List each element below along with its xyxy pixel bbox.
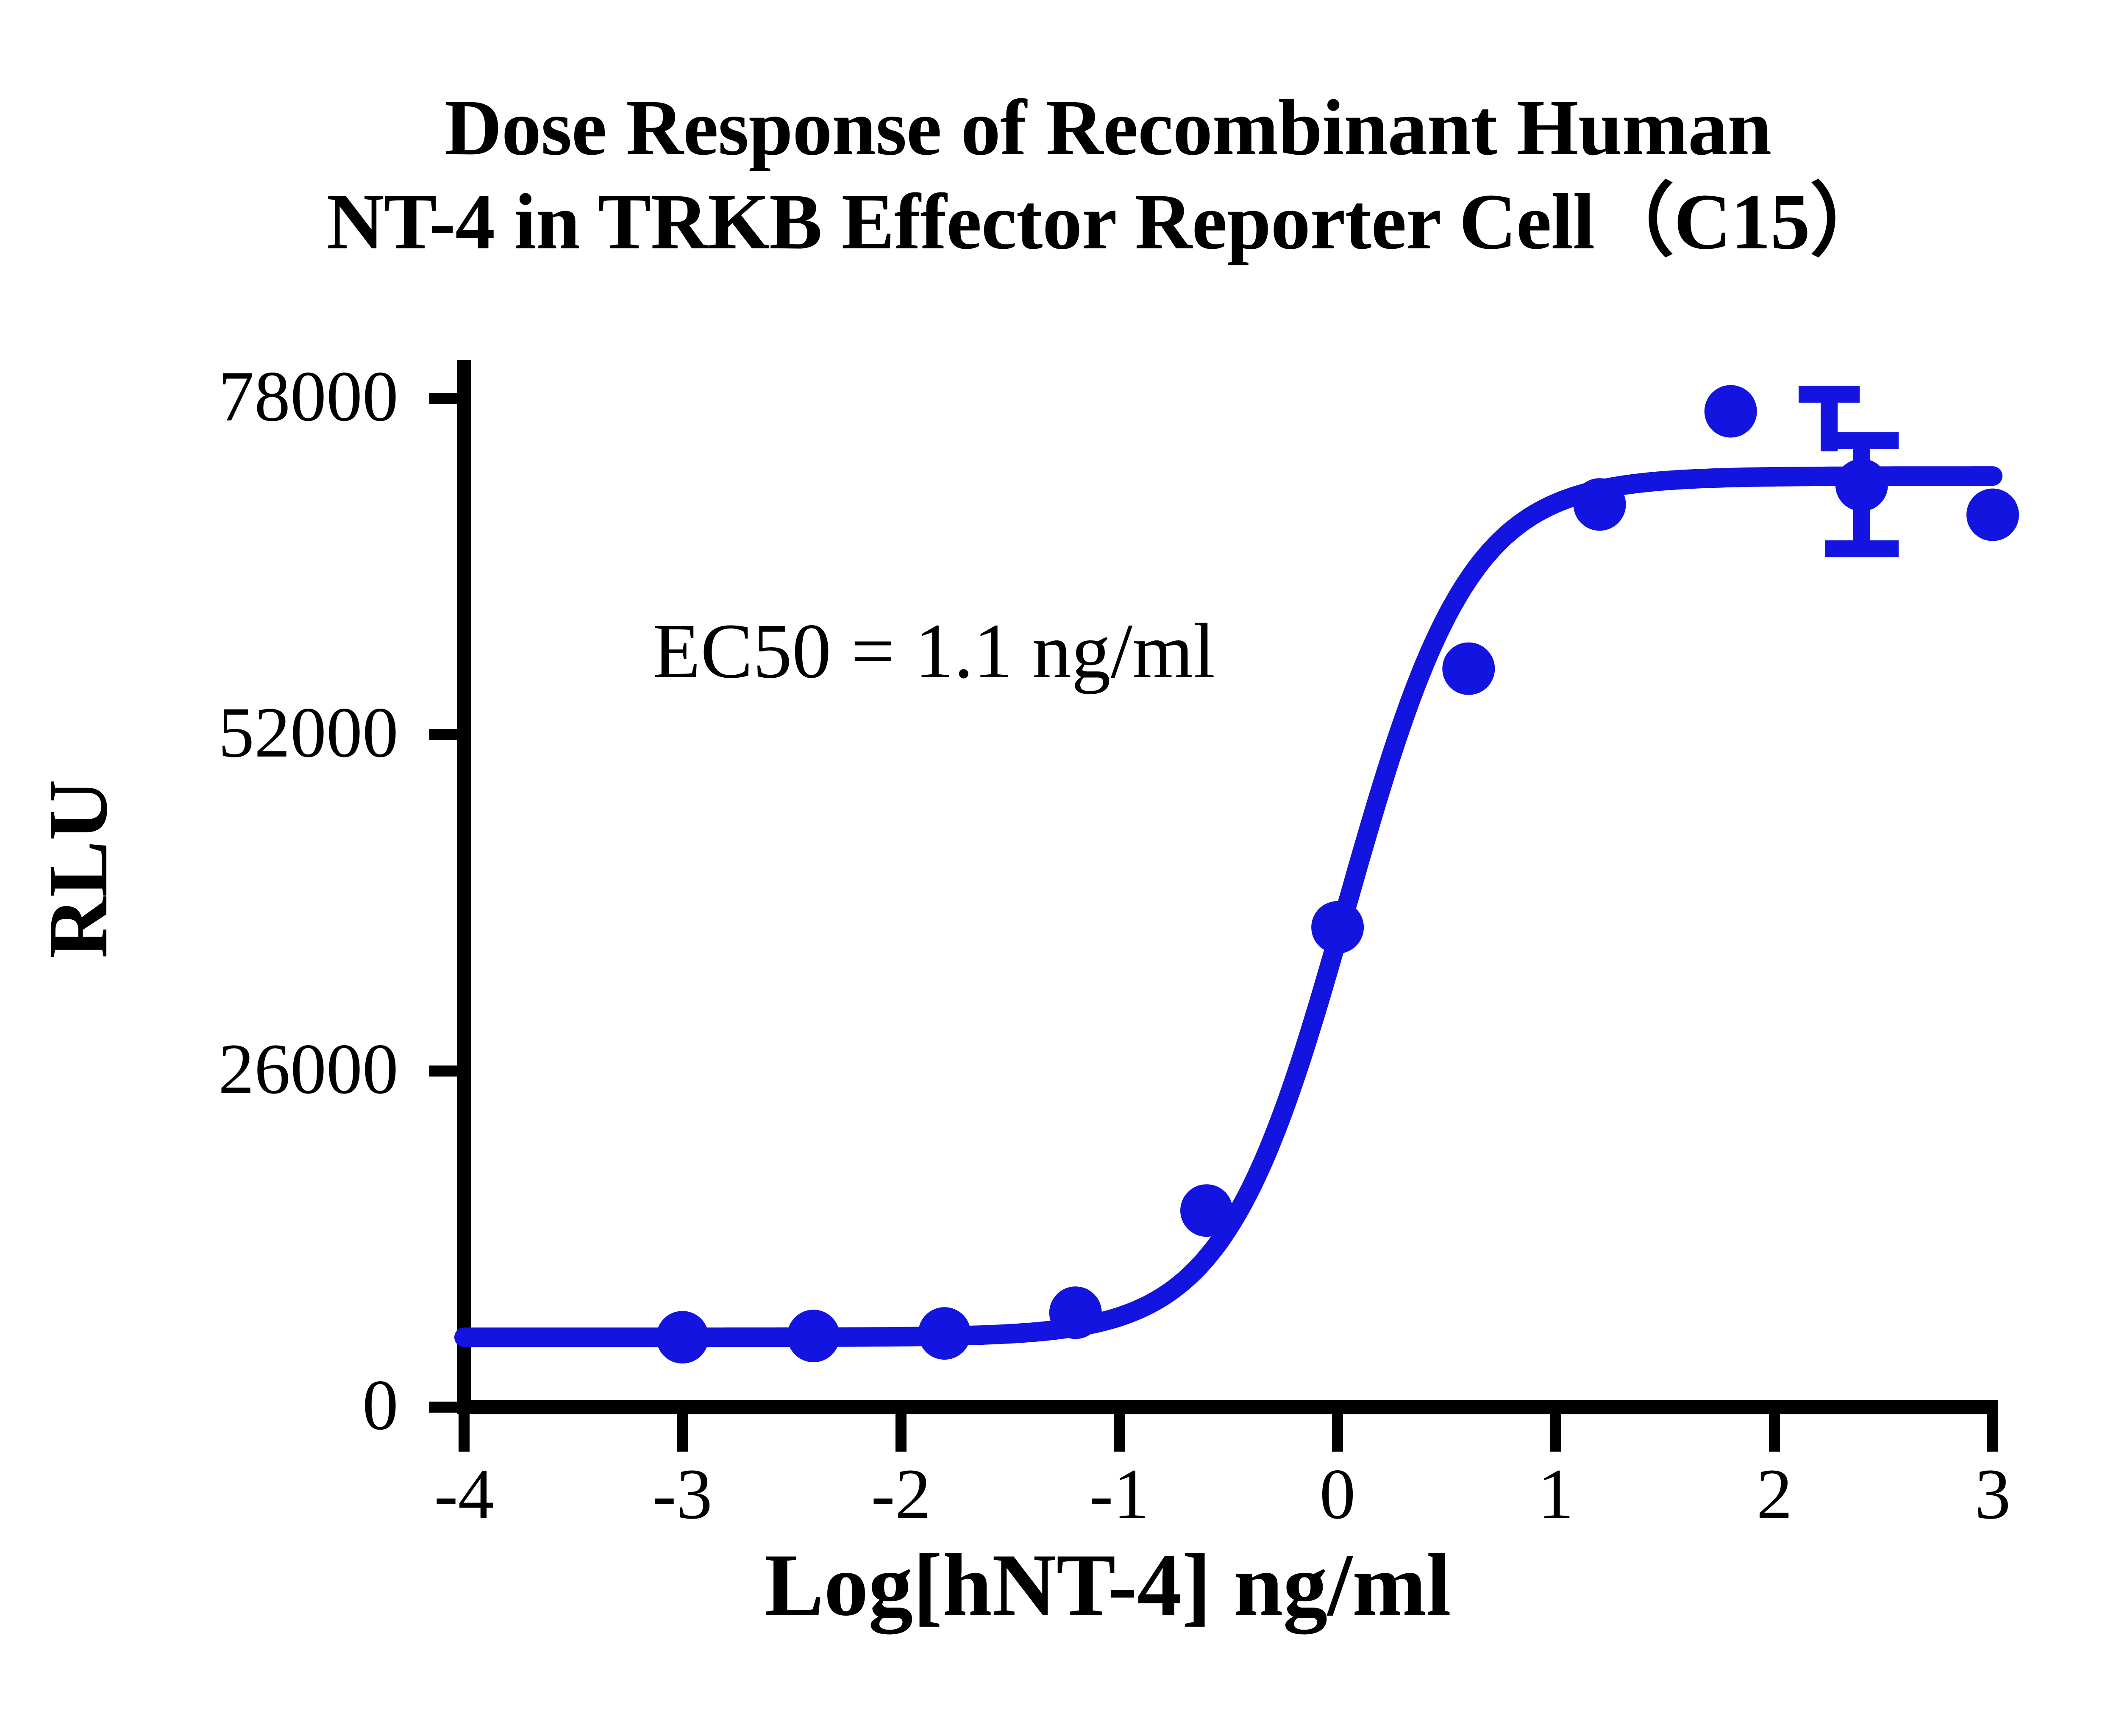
y-tick-label-26000: 26000 [127, 1033, 398, 1105]
x-tick-label-0: 0 [1270, 1458, 1405, 1530]
y-tick-label-0: 0 [127, 1369, 398, 1441]
x-tick-label--4: -4 [396, 1458, 532, 1530]
data-point [1705, 385, 1757, 438]
x-tick-label-2: 2 [1707, 1458, 1842, 1530]
y-axis-title: RLU [30, 759, 127, 979]
x-tick-label-1: 1 [1488, 1458, 1624, 1530]
data-point [1311, 901, 1364, 954]
data-point [787, 1310, 840, 1362]
data-point [1442, 643, 1495, 695]
x-tick-label--1: -1 [1051, 1458, 1187, 1530]
y-tick-label-78000: 78000 [127, 360, 398, 432]
data-point [918, 1307, 971, 1360]
data-point [1835, 459, 1888, 511]
x-tick-label--3: -3 [615, 1458, 750, 1530]
chart-page: Dose Response of Recombinant Human NT-4 … [0, 0, 2119, 1736]
data-point-markers [656, 385, 2019, 1364]
x-tick-label-3: 3 [1925, 1458, 2061, 1530]
data-point [1574, 478, 1626, 531]
data-point [1966, 489, 2019, 541]
axis-lines [457, 360, 1998, 1407]
ec50-annotation: EC50 = 1.1 ng/ml [653, 606, 1215, 696]
data-point [1049, 1286, 1102, 1339]
y-tick-label-52000: 52000 [127, 696, 398, 768]
data-point [656, 1311, 709, 1363]
data-point [1180, 1184, 1233, 1237]
x-tick-label--2: -2 [833, 1458, 969, 1530]
x-axis-title: Log[hNT-4] ng/ml [0, 1534, 2119, 1636]
